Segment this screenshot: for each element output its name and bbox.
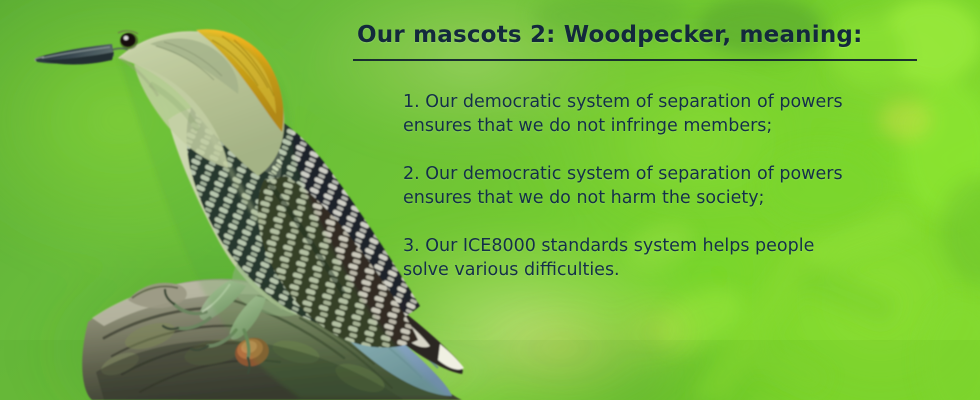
title-divider — [353, 59, 917, 61]
list-item-line: 1. Our democratic system of separation o… — [403, 90, 919, 114]
page-title: Our mascots 2: Woodpecker, meaning: — [353, 20, 919, 50]
list-item-line: 2. Our democratic system of separation o… — [403, 162, 919, 186]
meaning-list: 1. Our democratic system of separation o… — [403, 90, 919, 282]
list-item-line: solve various difficulties. — [403, 258, 919, 282]
list-item: 1. Our democratic system of separation o… — [403, 90, 919, 138]
text-panel: Our mascots 2: Woodpecker, meaning: 1. O… — [353, 20, 919, 320]
list-item: 3. Our ICE8000 standards system helps pe… — [403, 234, 919, 282]
mascot-banner: Our mascots 2: Woodpecker, meaning: 1. O… — [0, 0, 980, 400]
list-item-line: ensures that we do not infringe members; — [403, 114, 919, 138]
list-item: 2. Our democratic system of separation o… — [403, 162, 919, 210]
bird-beak — [35, 44, 128, 65]
list-item-line: ensures that we do not harm the society; — [403, 186, 919, 210]
list-item-line: 3. Our ICE8000 standards system helps pe… — [403, 234, 919, 258]
